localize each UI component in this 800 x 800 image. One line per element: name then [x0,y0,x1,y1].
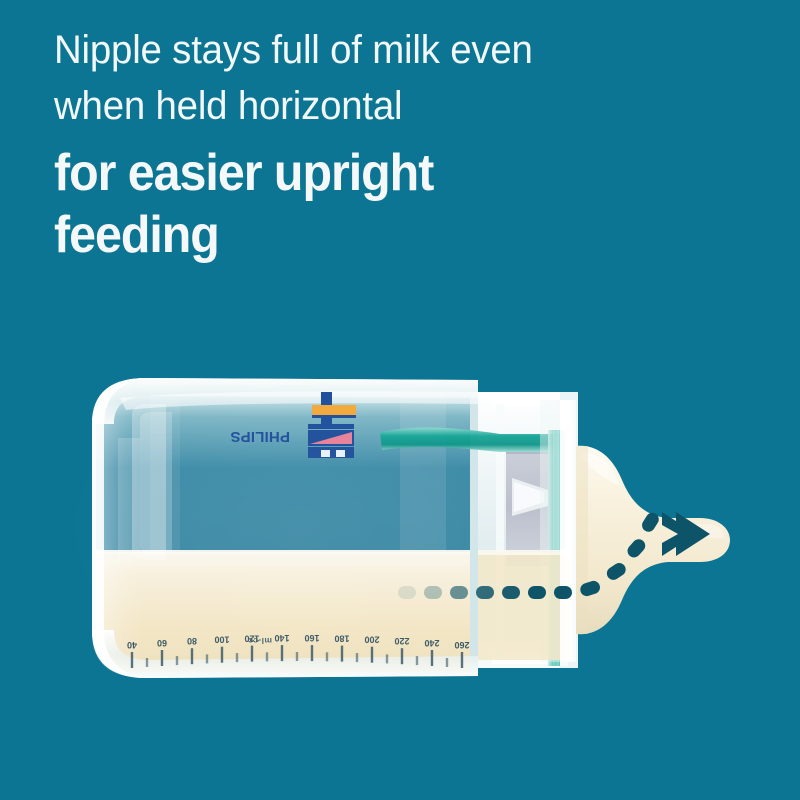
headline-light-line-1: Nipple stays full of milk even [54,22,707,78]
promo-canvas: Nipple stays full of milk even when held… [0,0,800,800]
headline-bold-line-1: for easier upright [54,142,686,204]
scale-tick [446,658,448,667]
headline-bold-line-2: feeding [54,204,686,266]
headline-block: Nipple stays full of milk even when held… [54,22,734,266]
headline-light-line-2: when held horizontal [54,78,707,134]
scale-tick [131,652,133,668]
scale-tick [461,652,463,668]
silicone-teat [576,446,730,634]
scale-tick [146,658,148,667]
